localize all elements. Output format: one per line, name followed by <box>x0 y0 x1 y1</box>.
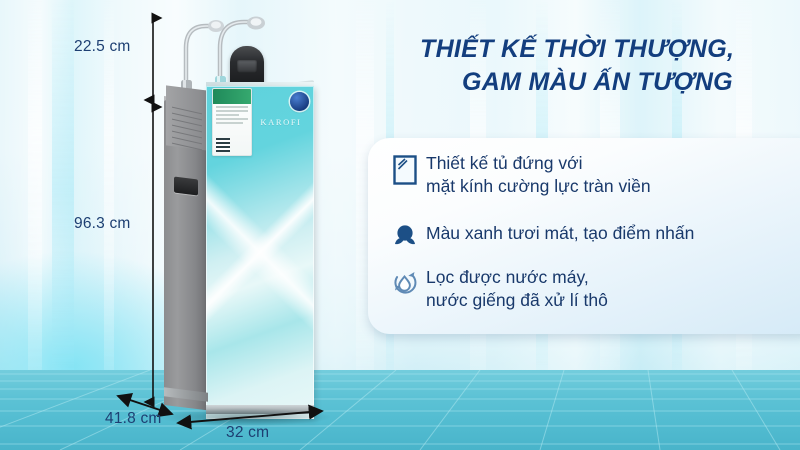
cabinet-handle-slot <box>174 177 198 196</box>
dimension-label-height-top: 22.5 cm <box>74 38 131 56</box>
cabinet-vent-grill <box>172 104 202 152</box>
headline-line-1: THIẾT KẾ THỜI THƯỢNG, <box>420 35 734 63</box>
product-brand-label: KAROFI <box>246 117 316 127</box>
feature-item-filter: Lọc được nước máy, nước giếng đã xử lí t… <box>384 266 608 313</box>
dimension-label-height-body: 96.3 cm <box>74 215 131 233</box>
feature-text-filter: Lọc được nước máy, nước giếng đã xử lí t… <box>426 266 608 313</box>
color-circles-icon <box>384 222 426 250</box>
display-screen <box>237 60 257 73</box>
page-title: THIẾT KẾ THỜI THƯỢNG, GAM MÀU ẤN TƯỢNG <box>420 33 800 99</box>
feature-item-color: Màu xanh tươi mát, tạo điểm nhấn <box>384 222 694 250</box>
water-drop-recycle-icon <box>384 266 426 298</box>
sticker-header-band <box>213 89 251 104</box>
sticker-text-line <box>216 114 239 116</box>
headline-line-2: GAM MÀU ẤN TƯỢNG <box>420 66 800 99</box>
feature-text-design: Thiết kế tủ đứng với mặt kính cường lực … <box>426 152 651 199</box>
certification-badge-icon <box>290 92 309 111</box>
product-water-purifier: KAROFI <box>150 0 350 420</box>
sticker-text-line <box>216 106 248 108</box>
glass-panel-icon <box>384 152 426 186</box>
sticker-text-line <box>216 122 243 124</box>
promo-banner: KAROFI 22.5 cm 96.3 cm <box>0 0 800 450</box>
feature-item-design: Thiết kế tủ đứng với mặt kính cường lực … <box>384 152 651 199</box>
feature-text-color: Màu xanh tươi mát, tạo điểm nhấn <box>426 222 694 245</box>
dimension-label-depth: 41.8 cm <box>105 410 162 428</box>
sticker-text-line <box>216 118 248 120</box>
dimension-label-width: 32 cm <box>226 424 269 442</box>
sticker-text-line <box>216 110 248 112</box>
qr-code-icon <box>216 138 230 152</box>
feature-card: Thiết kế tủ đứng với mặt kính cường lực … <box>368 138 800 334</box>
